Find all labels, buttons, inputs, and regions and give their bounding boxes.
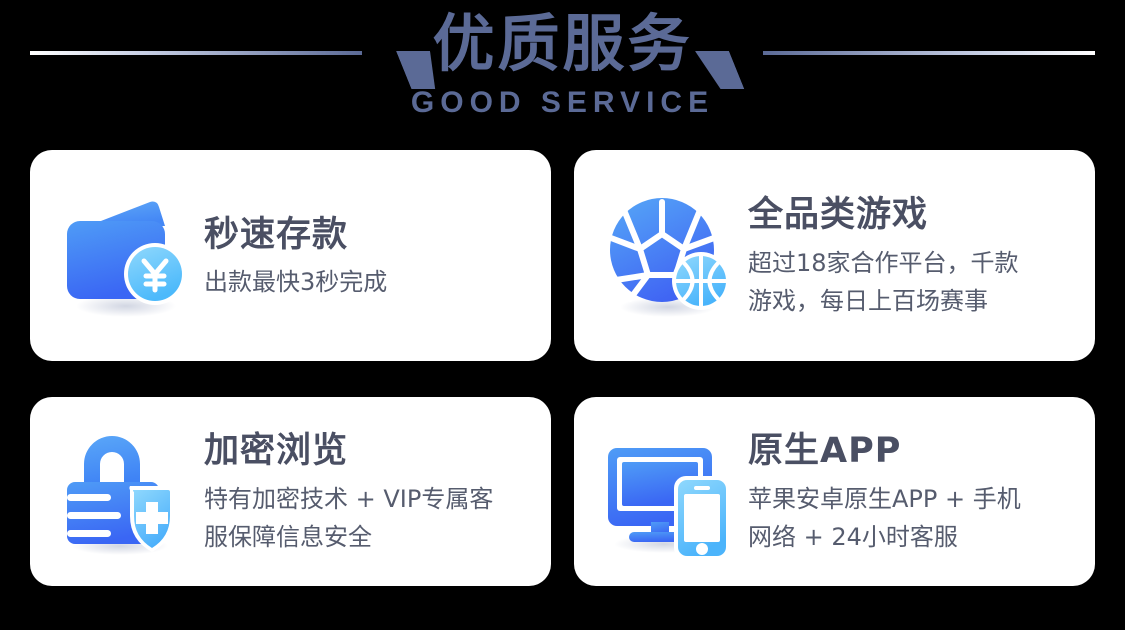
page-title-cn: 优质服务 bbox=[0, 6, 1125, 82]
page-title-en: GOOD SERVICE bbox=[0, 84, 1125, 122]
service-card-description-line: 游戏，每日上百场赛事 bbox=[748, 282, 1079, 320]
service-card-description-line: 苹果安卓原生APP + 手机 bbox=[748, 480, 1079, 518]
service-card-games[interactable]: 全品类游戏 超过18家合作平台，千款 游戏，每日上百场赛事 bbox=[574, 150, 1095, 361]
lock-shield-icon bbox=[58, 424, 194, 560]
service-card-native-app[interactable]: 原生APP 苹果安卓原生APP + 手机 网络 + 24小时客服 bbox=[574, 397, 1095, 586]
service-card-description: 出款最快3秒完成 bbox=[204, 264, 535, 300]
service-card-description-line: 服保障信息安全 bbox=[204, 518, 535, 556]
service-card-text: 加密浏览 特有加密技术 + VIP专属客 服保障信息安全 bbox=[194, 428, 535, 556]
service-card-title: 全品类游戏 bbox=[748, 192, 1079, 238]
service-card-encryption[interactable]: 加密浏览 特有加密技术 + VIP专属客 服保障信息安全 bbox=[30, 397, 551, 586]
service-card-description-line: 网络 + 24小时客服 bbox=[748, 518, 1079, 556]
soccer-basketball-icon bbox=[602, 188, 738, 324]
service-card-description-line: 特有加密技术 + VIP专属客 bbox=[204, 480, 535, 518]
service-card-grid: 秒速存款 出款最快3秒完成 bbox=[30, 150, 1095, 586]
service-card-description: 特有加密技术 + VIP专属客 服保障信息安全 bbox=[204, 480, 535, 556]
service-card-description-line: 出款最快3秒完成 bbox=[204, 264, 535, 300]
wallet-yen-icon bbox=[58, 188, 194, 324]
service-card-description: 苹果安卓原生APP + 手机 网络 + 24小时客服 bbox=[748, 480, 1079, 556]
service-card-text: 原生APP 苹果安卓原生APP + 手机 网络 + 24小时客服 bbox=[738, 428, 1079, 556]
service-card-text: 秒速存款 出款最快3秒完成 bbox=[194, 212, 535, 300]
service-card-title: 原生APP bbox=[748, 428, 1079, 474]
monitor-phone-icon bbox=[602, 424, 738, 560]
service-card-title: 秒速存款 bbox=[204, 212, 535, 258]
service-card-title: 加密浏览 bbox=[204, 428, 535, 474]
service-card-description-line: 超过18家合作平台，千款 bbox=[748, 244, 1079, 282]
service-card-deposit[interactable]: 秒速存款 出款最快3秒完成 bbox=[30, 150, 551, 361]
page-header: 优质服务 GOOD SERVICE bbox=[0, 0, 1125, 146]
service-card-text: 全品类游戏 超过18家合作平台，千款 游戏，每日上百场赛事 bbox=[738, 192, 1079, 320]
service-card-description: 超过18家合作平台，千款 游戏，每日上百场赛事 bbox=[748, 244, 1079, 320]
header-title-block: 优质服务 GOOD SERVICE bbox=[0, 6, 1125, 122]
